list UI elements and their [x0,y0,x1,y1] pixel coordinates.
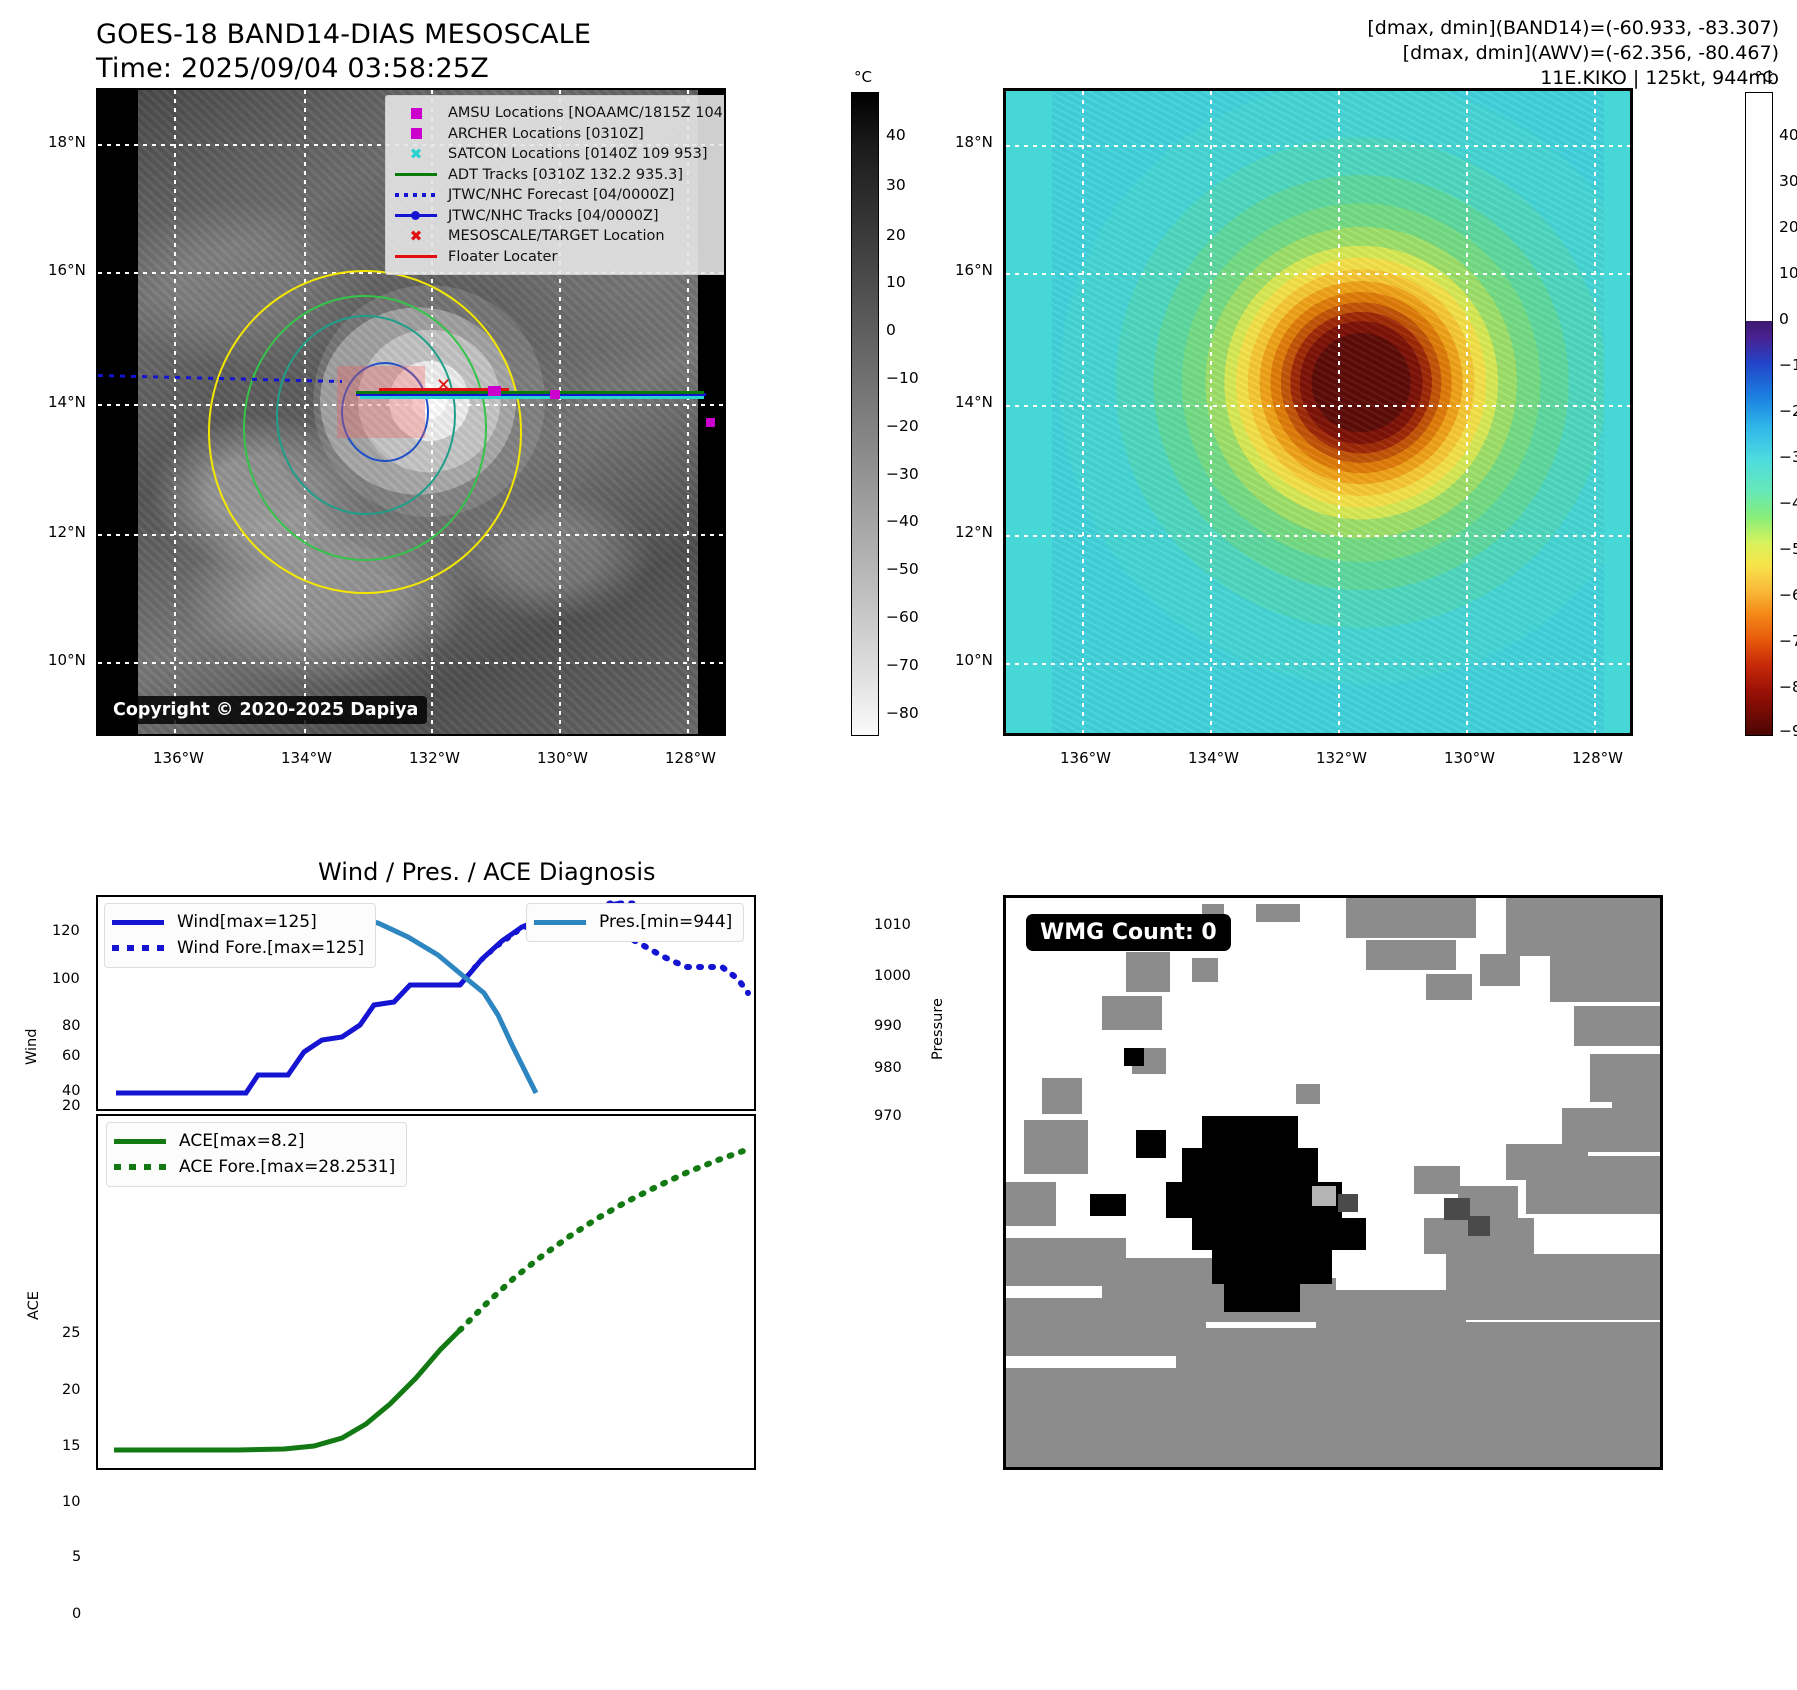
ir-cb-tick: 10 [886,273,906,291]
ir-cb-tick: −70 [886,656,919,674]
ir-cb-tick: 40 [886,126,906,144]
ace-forecast-line [460,1150,746,1330]
awv-gridline-lat [1006,663,1630,665]
ir-lon-tick: 128°W [665,749,716,767]
wind-line-icon [112,920,166,925]
ir-cb-tick: 30 [886,176,906,194]
ir-cb-tick: −80 [886,704,919,722]
wind-pressure-chart[interactable]: Wind[max=125] Wind Fore.[max=125] Pres.[… [96,895,756,1111]
awv-cb-tick: −20 [1779,402,1797,420]
ir-lon-tick: 134°W [281,749,332,767]
ir-cb-tick: −50 [886,560,919,578]
pressure-ytick: 970 [874,1108,902,1124]
awv-lon-tick: 130°W [1444,749,1495,767]
wind-ytick: 40 [62,1083,80,1099]
awv-lon-tick: 136°W [1060,749,1111,767]
mesoscale-target-box [337,366,425,438]
legend-label: Wind Fore.[max=125] [177,935,364,961]
legend-label: ACE Fore.[max=28.2531] [179,1154,395,1180]
ace-ytick: 20 [62,1382,80,1398]
awv-lon-tick: 132°W [1316,749,1367,767]
wind-ytick: 80 [62,1018,80,1034]
pressure-line-icon [534,920,588,925]
ace-ytick: 5 [72,1549,81,1565]
awv-gridline-lon [1082,91,1084,733]
awv-gridline-lat [1006,273,1630,275]
target-x-icon: ✖ [393,229,439,243]
ir-cb-tick: −60 [886,608,919,626]
adt-track [356,391,704,394]
ir-cb-tick: −40 [886,512,919,530]
awv-gridline-lat [1006,145,1630,147]
stat-awv: [dmax, dmin](AWV)=(-62.356, -80.467) [1367,41,1779,66]
awv-imagery [1052,91,1604,736]
title-line-1: GOES-18 BAND14-DIAS MESOSCALE [96,18,591,52]
legend-item-floater: Floater Locater [393,247,726,268]
satcon-track [360,396,704,399]
awv-cb-tick: −30 [1779,448,1797,466]
awv-lat-tick: 14°N [955,393,993,411]
amsu-square-icon [393,106,439,120]
legend-item-jtwc-tracks: JTWC/NHC Tracks [04/0000Z] [393,206,726,227]
awv-gridline-lon [1338,91,1340,733]
adt-line-icon [393,168,439,182]
awv-cb-tick: 30 [1779,172,1797,190]
awv-lon-tick: 134°W [1188,749,1239,767]
legend-item-wind-forecast: Wind Fore.[max=125] [112,935,364,961]
ir-cb-tick: 0 [886,321,896,339]
ace-forecast-dotted-icon [114,1164,168,1170]
legend-item-pressure: Pres.[min=944] [534,909,732,935]
legend-label: ADT Tracks [0310Z 132.2 935.3] [448,165,683,186]
wind-axis-label: Wind [24,1029,40,1065]
mesoscale-target-marker: ✕ [436,377,451,395]
awv-cb-tick: −70 [1779,632,1797,650]
ir-lat-tick: 12°N [48,523,86,541]
awv-lat-tick: 10°N [955,651,993,669]
copyright-notice: Copyright © 2020-2025 Dapiya [104,696,427,724]
legend-label: Wind[max=125] [177,909,317,935]
ir-lat-tick: 16°N [48,261,86,279]
wind-forecast-dotted-icon [112,945,166,951]
ir-cb-tick: −20 [886,417,919,435]
track-line-dot-icon [393,209,439,223]
legend-label: Floater Locater [448,247,557,268]
ir-colorbar-unit: °C [854,68,872,86]
ace-line-icon [114,1139,168,1144]
legend-label: ACE[max=8.2] [179,1128,305,1154]
ace-axis-label: ACE [26,1291,42,1320]
awv-gridline-lon [1210,91,1212,733]
page-title: GOES-18 BAND14-DIAS MESOSCALE Time: 2025… [96,18,591,86]
legend-item-ace: ACE[max=8.2] [114,1128,395,1154]
awv-cb-tick: −50 [1779,540,1797,558]
archer-location-marker [550,390,560,399]
floater-line-icon [393,250,439,264]
ir-lon-tick: 132°W [409,749,460,767]
awv-cb-tick: 10 [1779,264,1797,282]
ir-satellite-map[interactable]: ✕ AMSU Locations [NOAAMC/1815Z 104 973] … [96,88,726,736]
diagnosis-title: Wind / Pres. / ACE Diagnosis [318,858,656,886]
legend-item-archer: ARCHER Locations [0310Z] [393,124,726,145]
ace-chart[interactable]: ACE[max=8.2] ACE Fore.[max=28.2531] [96,1114,756,1470]
awv-lat-tick: 12°N [955,523,993,541]
title-line-2: Time: 2025/09/04 03:58:25Z [96,52,591,86]
wind-ytick: 20 [62,1098,80,1114]
legend-label: JTWC/NHC Forecast [04/0000Z] [448,185,674,206]
legend-item-wind: Wind[max=125] [112,909,364,935]
ir-map-legend: AMSU Locations [NOAAMC/1815Z 104 973] AR… [385,95,726,275]
awv-gridline-lat [1006,405,1630,407]
archer-square-icon [393,127,439,141]
awv-colorbar [1745,92,1773,736]
legend-item-mesoscale-target: ✖ MESOSCALE/TARGET Location [393,226,726,247]
ir-cb-tick: −30 [886,465,919,483]
wind-chart-legend: Wind[max=125] Wind Fore.[max=125] [104,903,376,968]
legend-item-ace-forecast: ACE Fore.[max=28.2531] [114,1154,395,1180]
pressure-chart-legend: Pres.[min=944] [526,903,744,942]
wind-series-line [116,985,460,1093]
wmg-cells [1006,898,1660,1467]
header-stats: [dmax, dmin](BAND14)=(-60.933, -83.307) … [1367,16,1779,91]
legend-item-adt: ADT Tracks [0310Z 132.2 935.3] [393,165,726,186]
awv-cb-tick: −80 [1779,678,1797,696]
ir-cb-tick: −10 [886,369,919,387]
ir-lat-tick: 18°N [48,133,86,151]
wind-ytick: 100 [52,971,80,987]
archer-location-marker [706,418,715,427]
awv-cb-tick: 40 [1779,126,1797,144]
satcon-x-icon: ✖ [393,147,439,161]
ir-cb-tick: 20 [886,226,906,244]
legend-label: SATCON Locations [0140Z 109 953] [448,144,707,165]
wind-ytick: 60 [62,1048,80,1064]
stat-band14: [dmax, dmin](BAND14)=(-60.933, -83.307) [1367,16,1779,41]
ir-lon-tick: 136°W [153,749,204,767]
legend-label: Pres.[min=944] [599,909,732,935]
awv-cb-tick: −10 [1779,356,1797,374]
pressure-ytick: 1010 [874,917,911,933]
awv-cb-tick: −90 [1779,722,1797,740]
awv-cb-tick: −40 [1779,494,1797,512]
amsu-location-marker [488,386,501,396]
ace-ytick: 10 [62,1494,80,1510]
legend-label: JTWC/NHC Tracks [04/0000Z] [448,206,659,227]
ir-gridline-lon [174,90,176,734]
ace-ytick: 25 [62,1325,80,1341]
legend-item-amsu: AMSU Locations [NOAAMC/1815Z 104 973] [393,103,726,124]
awv-gridline-lat [1006,535,1630,537]
pressure-ytick: 1000 [874,968,911,984]
ace-ytick: 15 [62,1438,80,1454]
awv-cb-tick: −60 [1779,586,1797,604]
ir-lon-tick: 130°W [537,749,588,767]
ir-gridline-lat [98,662,724,664]
awv-cb-tick: 20 [1779,218,1797,236]
ir-colorbar [851,92,879,736]
ir-lat-tick: 10°N [48,651,86,669]
forecast-dotted-line-icon [393,188,439,202]
ace-ytick: 0 [72,1606,81,1622]
ir-lat-tick: 14°N [48,393,86,411]
legend-label: MESOSCALE/TARGET Location [448,226,665,247]
awv-lat-tick: 16°N [955,261,993,279]
awv-colorbar-unit: °C [1755,68,1773,86]
pressure-ytick: 990 [874,1018,902,1034]
awv-lat-tick: 18°N [955,133,993,151]
wind-ytick: 120 [52,923,80,939]
awv-gridline-lon [1466,91,1468,733]
legend-label: ARCHER Locations [0310Z] [448,124,644,145]
legend-item-satcon: ✖ SATCON Locations [0140Z 109 953] [393,144,726,165]
ace-series-line [114,1330,460,1450]
pressure-ytick: 980 [874,1060,902,1076]
legend-label: AMSU Locations [NOAAMC/1815Z 104 973] [448,103,726,124]
ace-chart-legend: ACE[max=8.2] ACE Fore.[max=28.2531] [106,1122,407,1187]
awv-gridline-lon [1594,91,1596,733]
legend-item-jtwc-forecast: JTWC/NHC Forecast [04/0000Z] [393,185,726,206]
pressure-axis-label: Pressure [930,998,946,1060]
wmg-count-badge: WMG Count: 0 [1026,914,1231,951]
awv-lon-tick: 128°W [1572,749,1623,767]
awv-satellite-map[interactable] [1003,88,1633,736]
wmg-map[interactable]: WMG Count: 0 [1003,895,1663,1470]
awv-cb-tick: 0 [1779,310,1789,328]
